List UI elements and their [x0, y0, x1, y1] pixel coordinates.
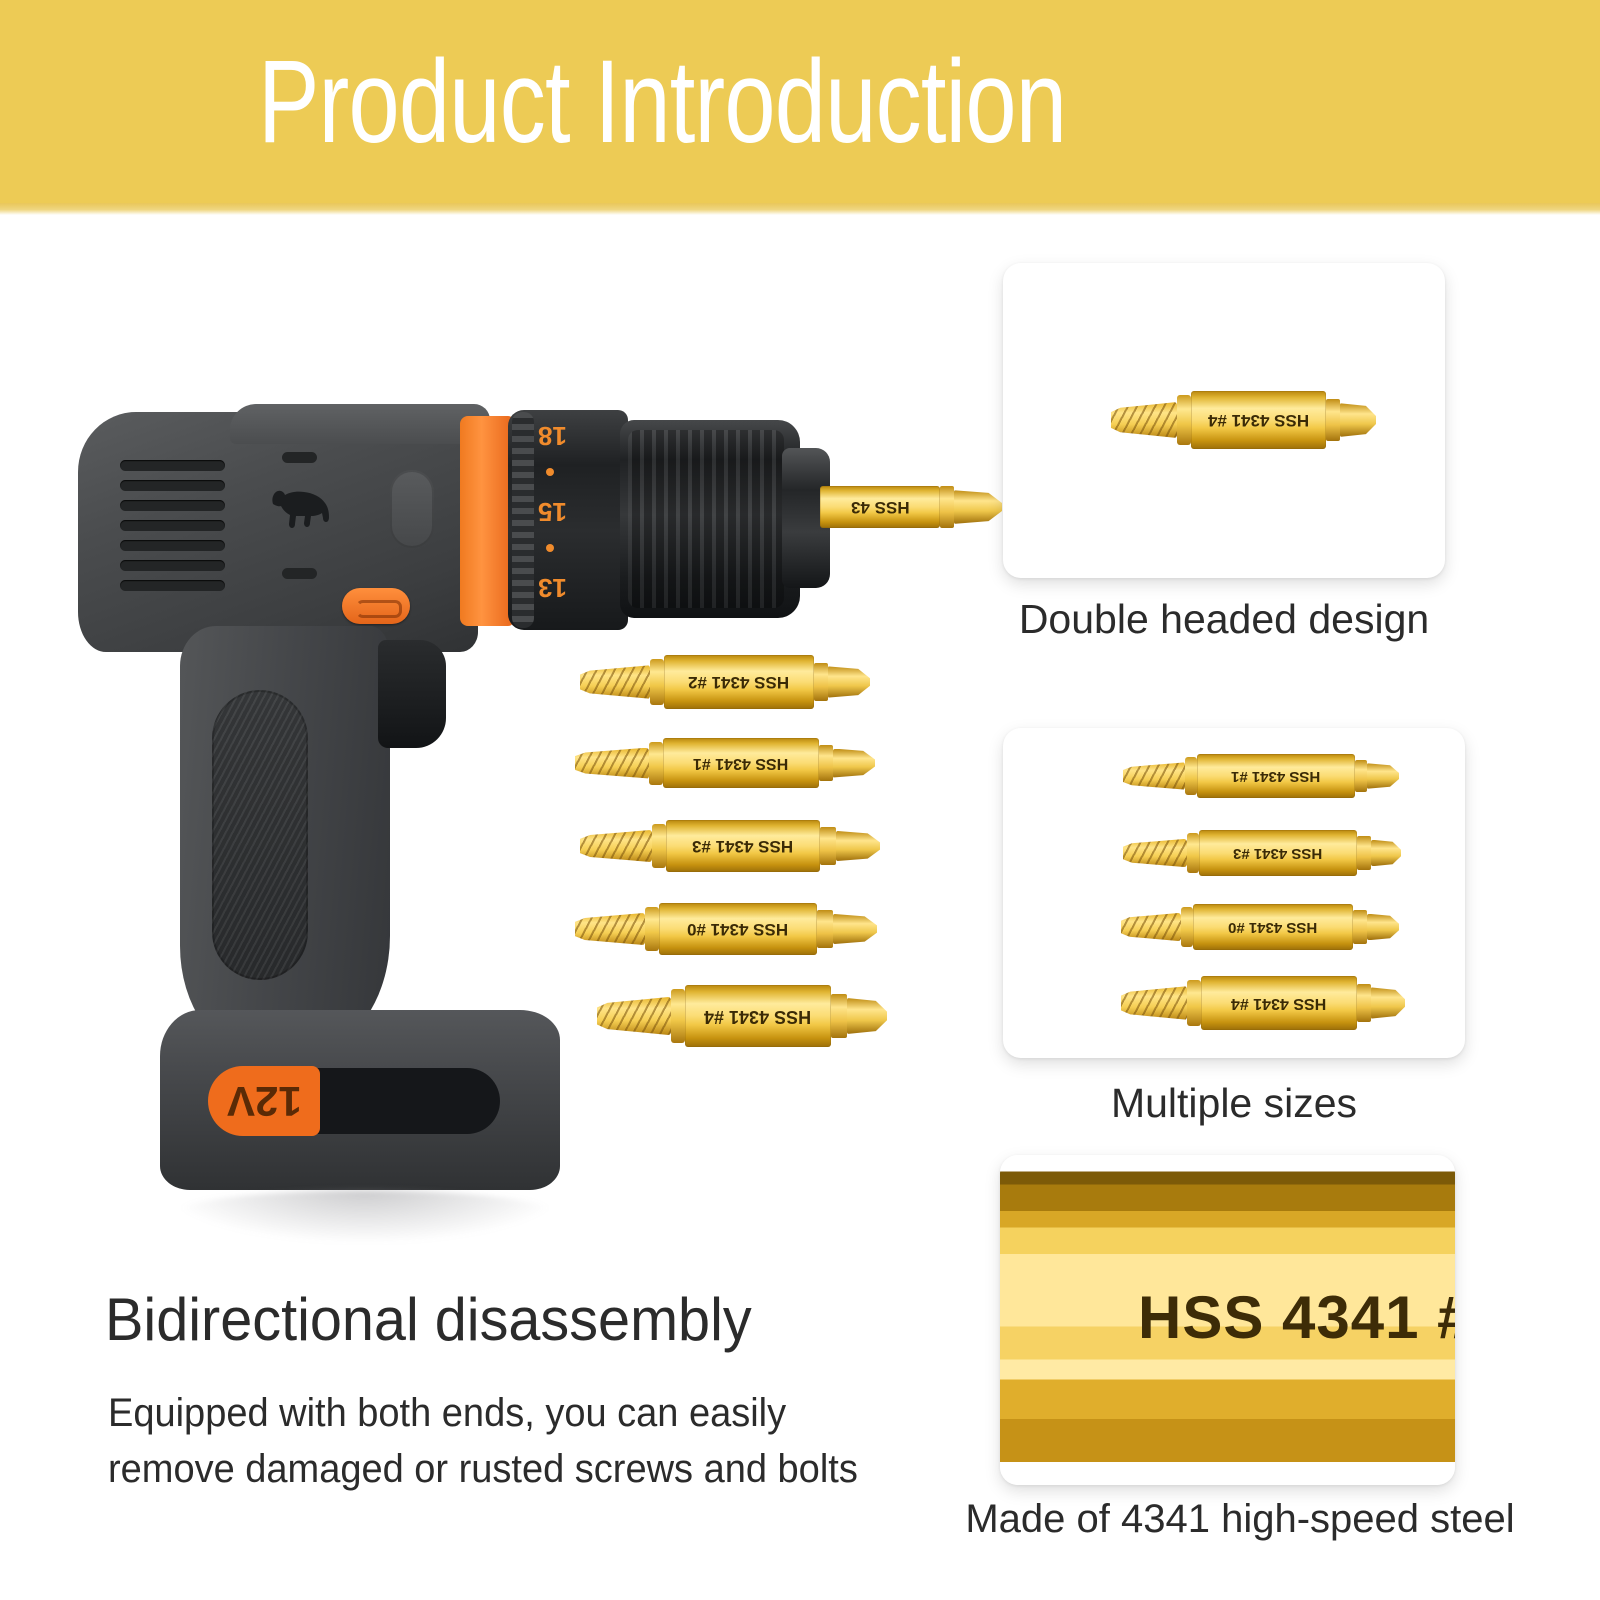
bit-stamp: HSS 4341 #4	[704, 1006, 811, 1027]
torque-mark-18: 18	[538, 420, 567, 451]
product-introduction-infographic: Product Introduction 18 15 13	[0, 0, 1600, 1600]
battery-voltage-badge: 12V	[208, 1066, 320, 1136]
drill-vent-slots	[120, 460, 225, 600]
drill-torque-scale: 18 15 13	[530, 420, 586, 620]
list-item: HSS 4341 #1	[575, 738, 875, 788]
bit-stamp: HSS 43	[851, 497, 910, 517]
caption-material: Made of 4341 high-speed steel	[920, 1498, 1560, 1540]
drill-reflection	[170, 1190, 560, 1242]
extractor-bit: HSS 4341 #1	[1123, 754, 1413, 798]
bit-stamp: HSS 4341 #2	[688, 672, 789, 692]
drill-grip-pad	[212, 690, 308, 980]
drill-side-panel	[390, 470, 434, 548]
extractor-bit: HSS 4341 #4	[1121, 976, 1417, 1030]
bit-stamp: HSS 4341 #3	[1233, 845, 1322, 862]
feature-line-1: Equipped with both ends, you can easily	[108, 1386, 786, 1440]
bit-stamp: HSS 4341 #0	[687, 919, 788, 939]
list-item: HSS 4341 #0	[575, 903, 877, 955]
feature-headline: Bidirectional disassembly	[105, 1290, 752, 1350]
bit-stamp: HSS 4341 #4	[1208, 410, 1309, 430]
list-item: HSS 4341 #2	[580, 655, 870, 709]
drill-slot-lower	[282, 568, 317, 579]
drill-housing-top	[230, 404, 490, 444]
cordless-drill-illustration: 18 15 13 HSS 43 12V	[60, 390, 980, 1220]
drill-slot-upper	[282, 452, 317, 463]
caption-double-headed-design: Double headed design	[1003, 598, 1445, 641]
extractor-bit: HSS 4341 #4	[1111, 391, 1376, 449]
page-title: Product Introduction	[258, 43, 1066, 161]
bit-stamp: HSS 4341 #1	[1231, 768, 1320, 785]
extractor-bit: HSS 4341 #3	[1123, 830, 1413, 876]
torque-mark-15: 15	[538, 496, 567, 527]
bit-stamp: HSS 4341 #3	[692, 836, 793, 856]
macro-bit-stamp: HSS 4341 #	[1138, 1283, 1455, 1352]
bit-stamp: HSS 4341 #4	[1231, 994, 1326, 1012]
list-item: HSS 4341 #3	[580, 820, 880, 872]
header-underline	[0, 203, 1600, 215]
panel-multiple-sizes: HSS 4341 #1 HSS 4341 #3 HSS 4341 #0	[1003, 728, 1465, 1058]
bear-logo-icon	[265, 482, 337, 536]
panel-double-headed-design: HSS 4341 #4	[1003, 263, 1445, 578]
extractor-bit: HSS 4341 #0	[1121, 904, 1411, 950]
bit-stamp: HSS 4341 #1	[693, 754, 788, 772]
drill-chuck[interactable]	[620, 420, 800, 618]
mounted-extractor-bit: HSS 43	[820, 478, 1005, 536]
list-item: HSS 4341 #4	[597, 985, 887, 1047]
drill-direction-switch[interactable]	[342, 588, 410, 624]
feature-line-2: remove damaged or rusted screws and bolt…	[108, 1442, 858, 1496]
drill-orange-collar	[460, 416, 514, 626]
header-band: Product Introduction	[0, 0, 1600, 203]
torque-mark-13: 13	[538, 572, 567, 603]
battery-voltage-label: 12V	[227, 1077, 302, 1125]
panel-material-macro: HSS 4341 #	[1000, 1155, 1455, 1485]
caption-multiple-sizes: Multiple sizes	[1003, 1082, 1465, 1125]
drill-trigger[interactable]	[378, 640, 446, 748]
bit-stamp: HSS 4341 #0	[1228, 919, 1317, 936]
